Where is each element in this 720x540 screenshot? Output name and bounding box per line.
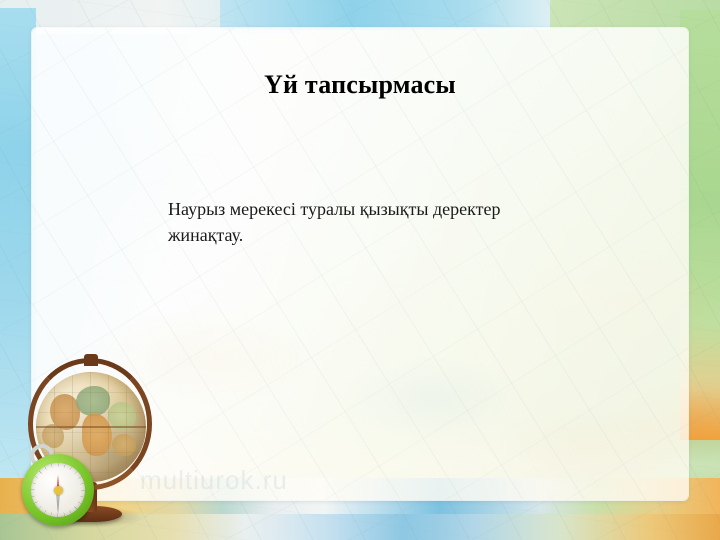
globe-equator-line bbox=[36, 426, 146, 428]
compass-illustration bbox=[22, 454, 94, 526]
compass-face bbox=[31, 463, 85, 517]
globe-top-arm bbox=[84, 354, 98, 366]
slide-canvas: Үй тапсырмасы Наурыз мерекесі туралы қыз… bbox=[0, 0, 720, 540]
compass-hub bbox=[54, 486, 63, 495]
assignment-text: Наурыз мерекесі туралы қызықты деректер … bbox=[168, 196, 568, 248]
site-watermark: multiurok.ru bbox=[140, 465, 580, 496]
page-title: Үй тапсырмасы bbox=[0, 70, 720, 100]
globe-illustration bbox=[14, 319, 164, 534]
